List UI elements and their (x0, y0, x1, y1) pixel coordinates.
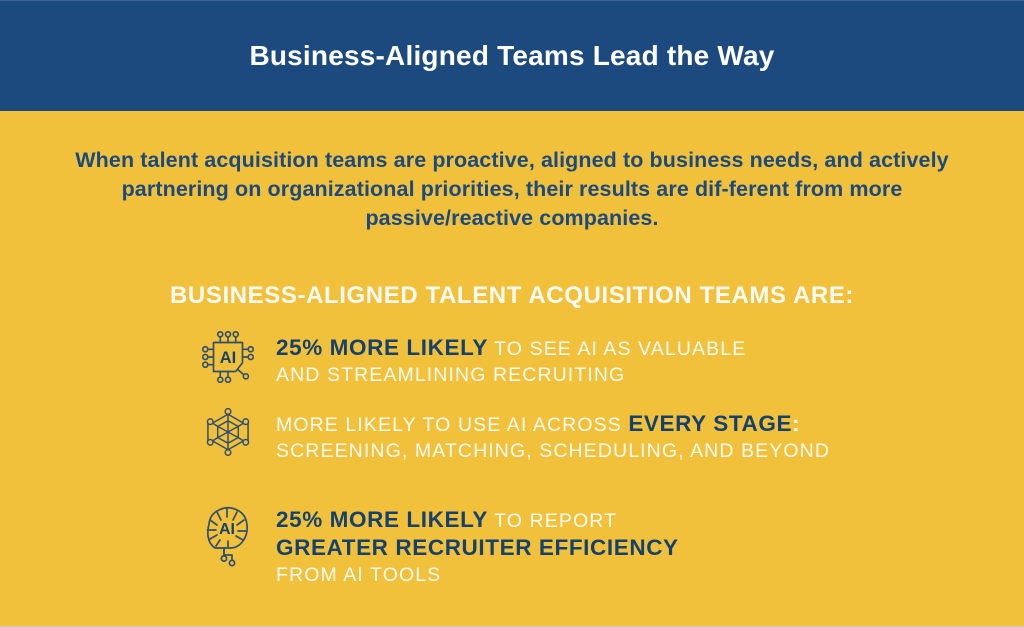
stat-line-3: FROM AI TOOLS (276, 563, 1024, 588)
stat-plain: TO SEE AI AS VALUABLE (488, 338, 746, 360)
ai-brain-icon: AI (196, 498, 260, 572)
stat-line-2: SCREENING, MATCHING, SCHEDULING, AND BEY… (276, 439, 1024, 464)
stat-line-1: MORE LIKELY TO USE AI ACROSS EVERY STAGE… (276, 410, 1024, 439)
infographic-slide: Business-Aligned Teams Lead the Way When… (0, 0, 1024, 627)
svg-text:AI: AI (220, 349, 236, 367)
ai-chip-icon: AI (196, 326, 260, 386)
stat-text: 25% MORE LIKELY TO REPORT GREATER RECRUI… (276, 498, 1024, 589)
stat-plain-leading: MORE LIKELY TO USE AI ACROSS (276, 414, 628, 436)
stat-plain: TO REPORT (488, 510, 617, 532)
stat-text: MORE LIKELY TO USE AI ACROSS EVERY STAGE… (276, 402, 1024, 464)
stat-item: AI 25% MORE LIKELY TO REPORT GREATER REC… (0, 498, 1024, 589)
stat-item: AI 25% MORE LIKELY TO SEE AI AS VALUABLE… (0, 326, 1024, 388)
section-heading: BUSINESS-ALIGNED TALENT ACQUISITION TEAM… (0, 282, 1024, 310)
stat-list: AI 25% MORE LIKELY TO SEE AI AS VALUABLE… (0, 326, 1024, 588)
stat-text: 25% MORE LIKELY TO SEE AI AS VALUABLE AN… (276, 326, 1024, 388)
stat-line-2: AND STREAMLINING RECRUITING (276, 363, 1024, 388)
stat-line-1: 25% MORE LIKELY TO SEE AI AS VALUABLE (276, 334, 1024, 363)
stat-punctuation: : (792, 411, 801, 436)
stat-line-1: 25% MORE LIKELY TO REPORT (276, 506, 1024, 535)
network-nodes-icon (196, 402, 260, 460)
stat-highlight: EVERY STAGE (628, 411, 792, 436)
stat-item: MORE LIKELY TO USE AI ACROSS EVERY STAGE… (0, 402, 1024, 464)
header-banner: Business-Aligned Teams Lead the Way (0, 1, 1024, 111)
page-title: Business-Aligned Teams Lead the Way (249, 41, 774, 72)
stat-highlight: 25% MORE LIKELY (276, 507, 488, 532)
svg-text:AI: AI (219, 521, 235, 538)
intro-paragraph: When talent acquisition teams are proact… (62, 146, 962, 233)
stat-highlight: 25% MORE LIKELY (276, 335, 488, 360)
stat-line-2: GREATER RECRUITER EFFICIENCY (276, 534, 1024, 563)
